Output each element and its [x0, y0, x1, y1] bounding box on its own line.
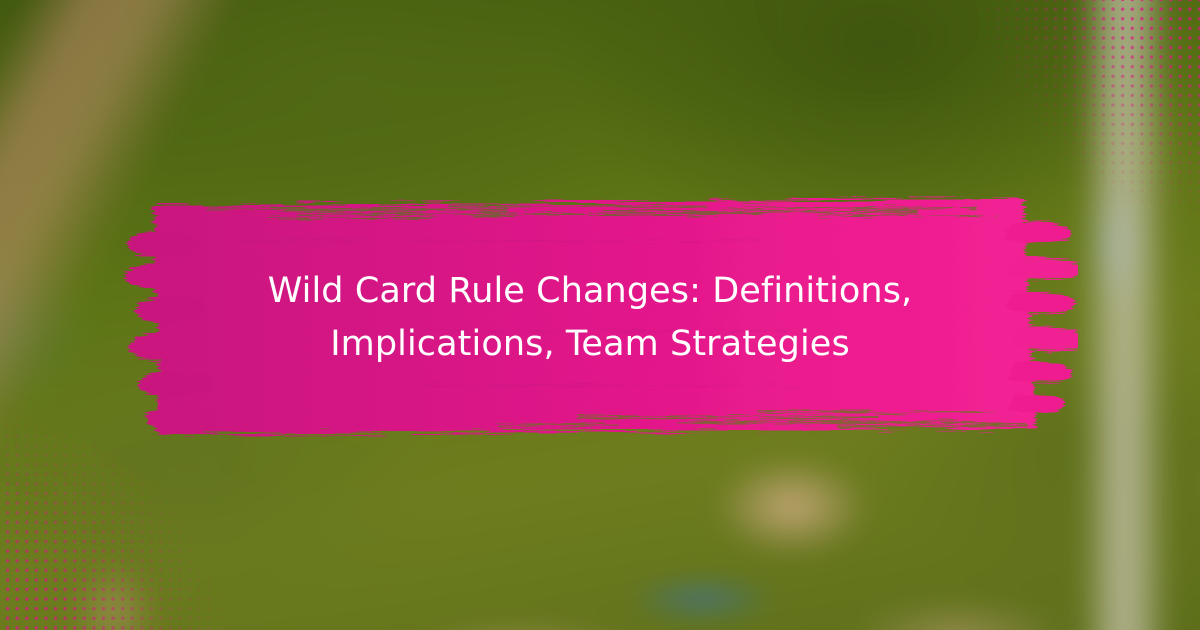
- share-card-canvas: Wild Card Rule Changes: Definitions, Imp…: [0, 0, 1200, 630]
- page-title: Wild Card Rule Changes: Definitions, Imp…: [195, 265, 985, 371]
- page-title-line-2: Implications, Team Strategies: [330, 324, 850, 364]
- page-title-line-1: Wild Card Rule Changes: Definitions,: [268, 271, 913, 311]
